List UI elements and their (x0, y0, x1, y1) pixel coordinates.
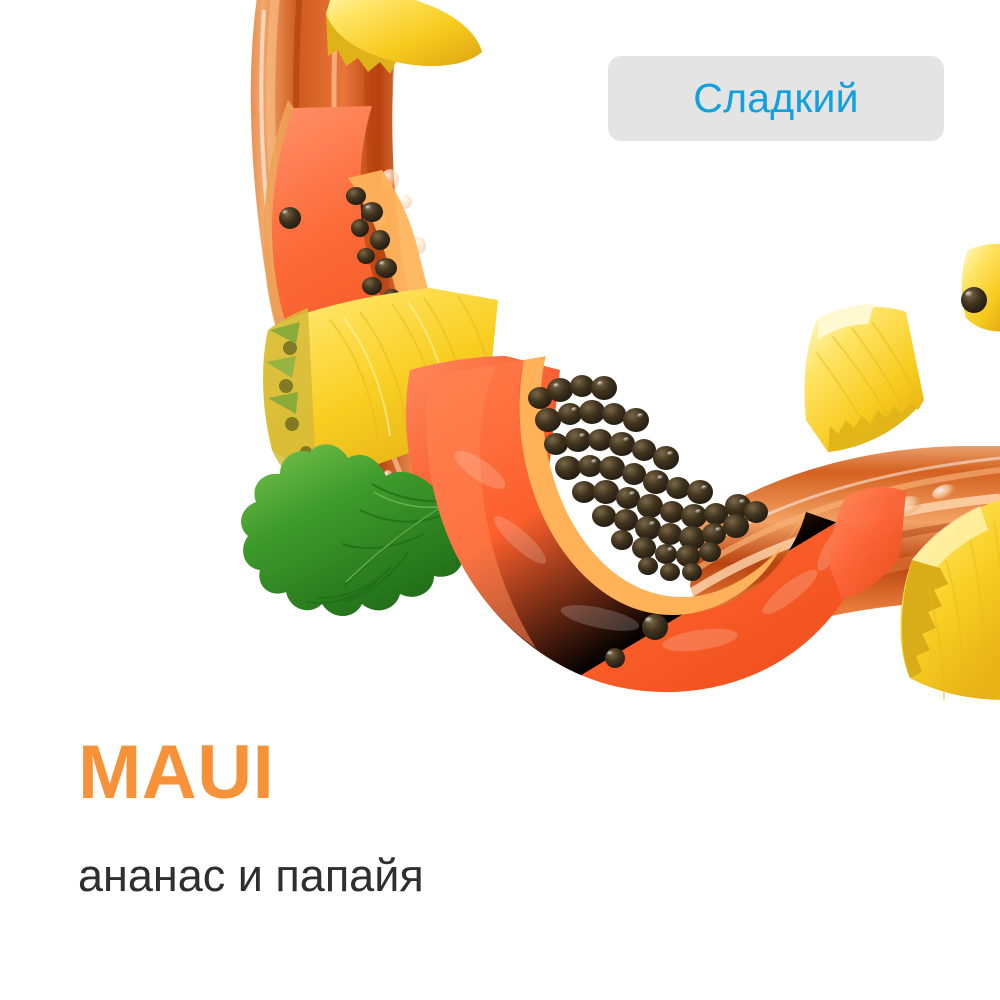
product-title: MAUI (78, 735, 938, 811)
product-text-block: MAUI ананас и папайя (78, 735, 938, 898)
product-subtitle: ананас и папайя (78, 811, 938, 898)
taste-badge[interactable]: Сладкий (608, 56, 944, 141)
taste-badge-label: Сладкий (693, 78, 858, 119)
product-card: Сладкий MAUI ананас и папайя (0, 0, 1000, 1000)
stray-seed (279, 207, 301, 229)
stray-seed (961, 287, 987, 313)
pineapple-wedge-right-corner (961, 244, 1000, 332)
